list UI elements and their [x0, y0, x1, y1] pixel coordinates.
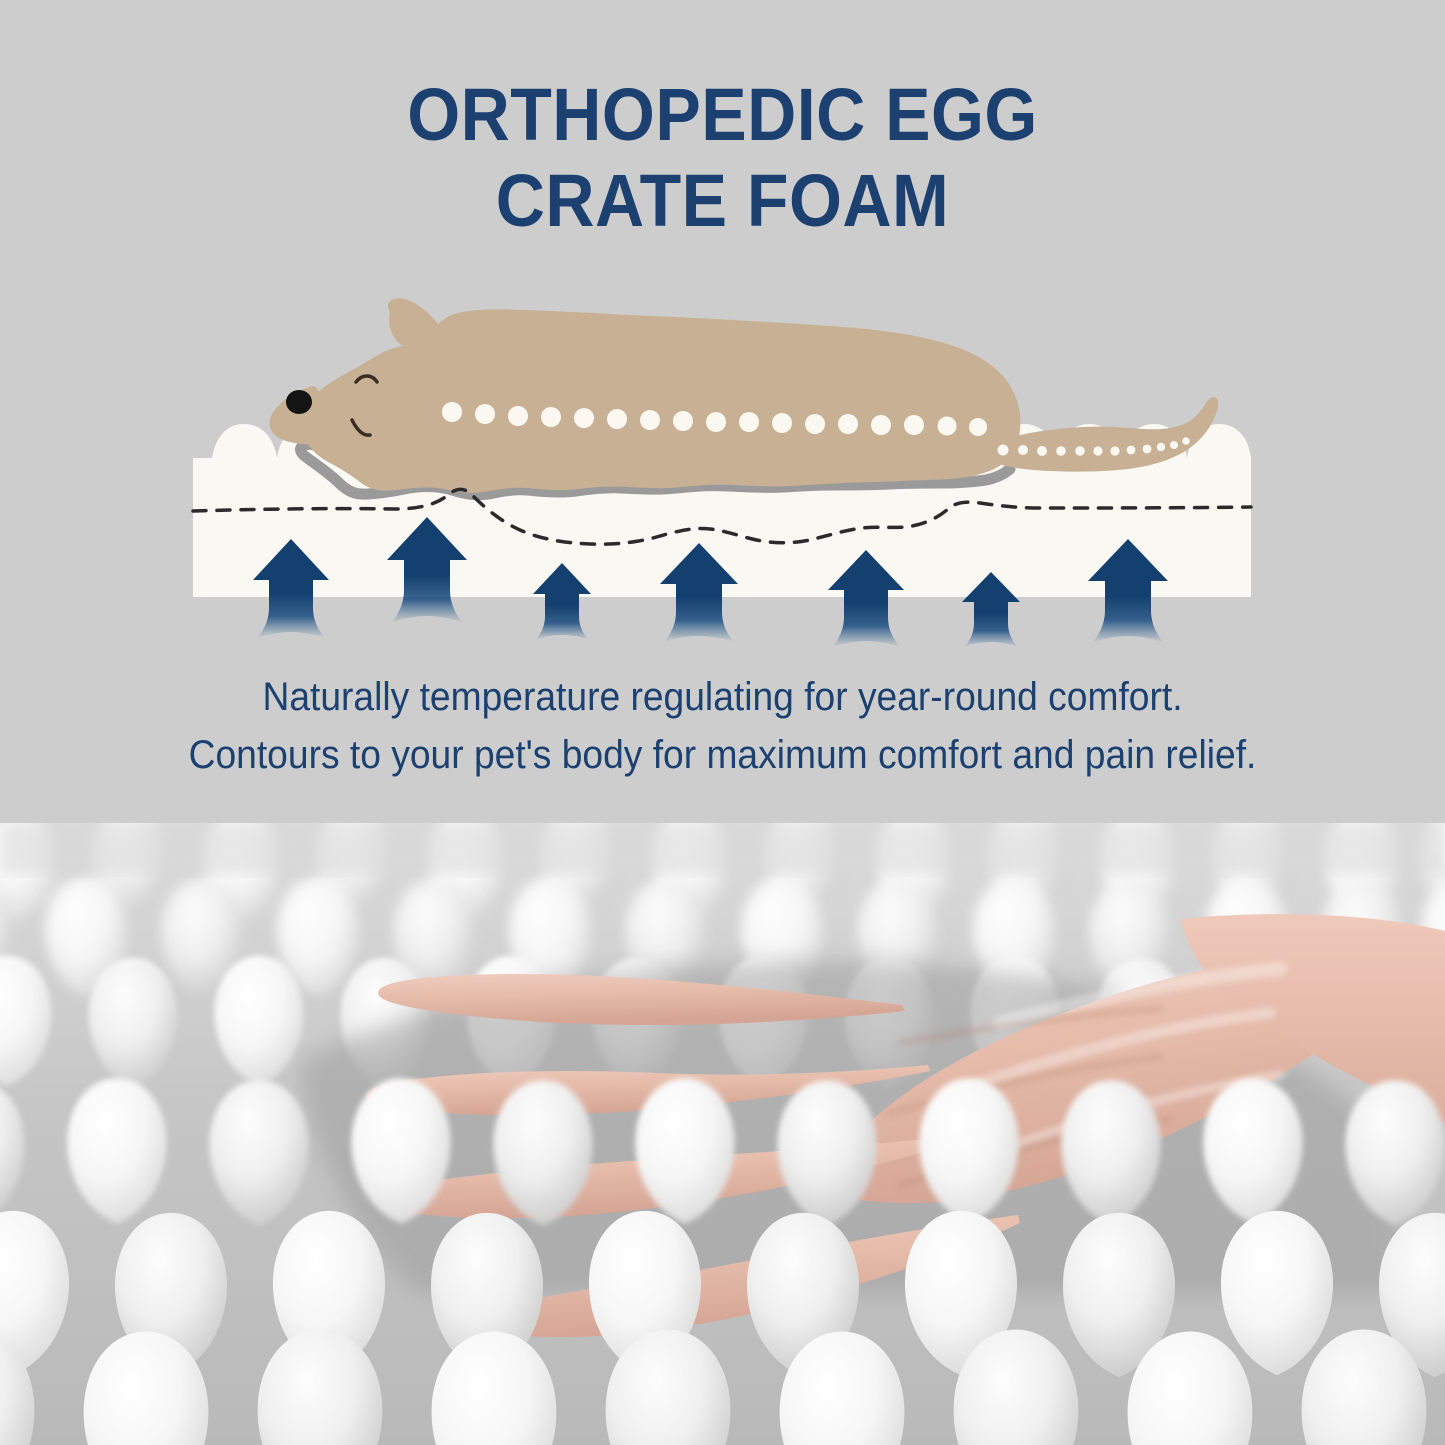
caption-line-1: Naturally temperature regulating for yea…: [51, 668, 1395, 726]
dog-on-foam-pad-diagram: [0, 290, 1445, 660]
caption-line-2: Contours to your pet's body for maximum …: [51, 726, 1395, 784]
foam-photo: [0, 823, 1445, 1445]
feature-captions: Naturally temperature regulating for yea…: [0, 668, 1445, 784]
photo-top-softening: [0, 823, 1445, 873]
sleeping-dog: [269, 298, 1218, 495]
dog-nose: [286, 390, 312, 414]
dog-body: [304, 298, 1021, 493]
product-infographic: ORTHOPEDIC EGG CRATE FOAM: [0, 0, 1445, 1445]
page-title: ORTHOPEDIC EGG CRATE FOAM: [58, 72, 1387, 244]
top-info-panel: ORTHOPEDIC EGG CRATE FOAM: [0, 0, 1445, 823]
